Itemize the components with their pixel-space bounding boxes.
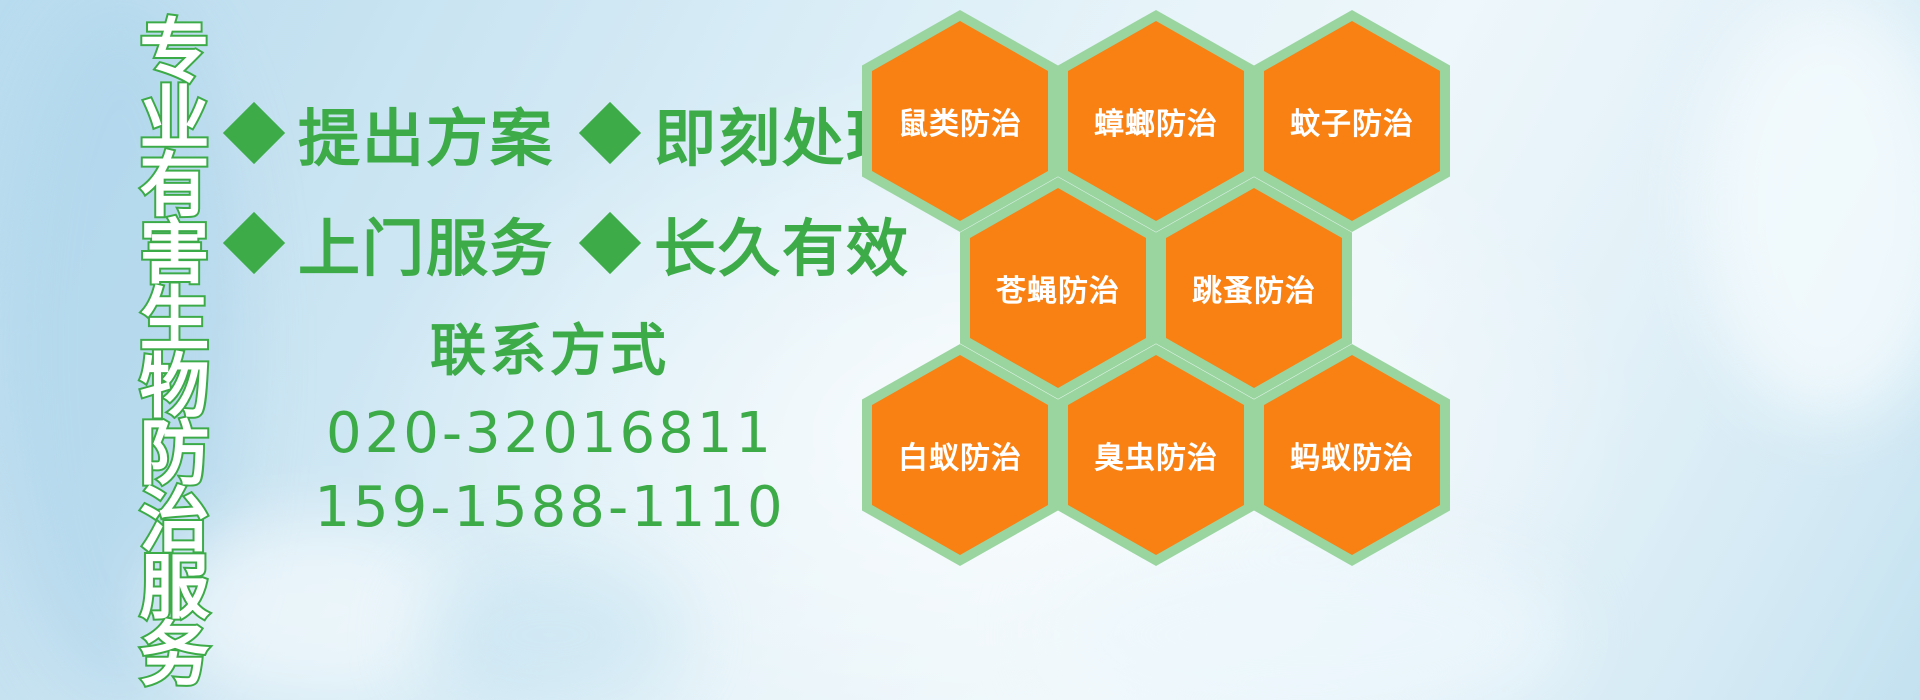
background-blob-right	[1700, 0, 1920, 420]
hex-label-fly: 苍蝇防治	[996, 266, 1120, 310]
phone-landline[interactable]: 020-32016811	[300, 397, 800, 471]
background-blob-bottom-mid	[420, 560, 680, 700]
hex-label-termite: 白蚁防治	[898, 433, 1022, 477]
feature-label-propose-plan: 提出方案	[298, 88, 554, 178]
hex-cell-bedbug[interactable]: 臭虫防治	[1058, 344, 1254, 566]
hex-label-rodent: 鼠类防治	[898, 99, 1022, 143]
hexagon-shape: 臭虫防治	[1058, 344, 1254, 566]
hex-label-ant: 蚂蚁防治	[1290, 433, 1414, 477]
diamond-bullet-icon	[579, 212, 641, 274]
hexagon-shape: 白蚁防治	[862, 344, 1058, 566]
hex-label-cockroach: 蟑螂防治	[1094, 99, 1218, 143]
contact-block: 联系方式 020-32016811 159-1588-1110	[300, 322, 800, 545]
hex-label-flea: 跳蚤防治	[1192, 266, 1316, 310]
pest-control-banner: 专业有害生物防治服务 提出方案 即刻处理 上门服务 长久有效 联系方式 020-…	[0, 0, 1920, 700]
feature-row-1: 提出方案 即刻处理	[232, 88, 910, 178]
feature-label-onsite-service: 上门服务	[298, 198, 554, 288]
diamond-bullet-icon	[579, 102, 641, 164]
hex-cell-termite[interactable]: 白蚁防治	[862, 344, 1058, 566]
contact-title: 联系方式	[300, 322, 800, 381]
hex-cell-ant[interactable]: 蚂蚁防治	[1254, 344, 1450, 566]
phone-mobile[interactable]: 159-1588-1110	[300, 471, 800, 545]
service-honeycomb: 鼠类防治 蟑螂防治 蚊子防治 苍蝇防治	[856, 0, 1456, 570]
hexagon-inner: 蚂蚁防治	[1264, 355, 1440, 555]
hexagon-inner: 白蚁防治	[872, 355, 1048, 555]
hex-label-bedbug: 臭虫防治	[1094, 433, 1218, 477]
diamond-bullet-icon	[223, 212, 285, 274]
diamond-bullet-icon	[223, 102, 285, 164]
hexagon-inner: 臭虫防治	[1068, 355, 1244, 555]
hexagon-shape: 蚂蚁防治	[1254, 344, 1450, 566]
hex-label-mosquito: 蚊子防治	[1290, 99, 1414, 143]
vertical-headline: 专业有害生物防治服务	[106, 14, 202, 684]
feature-row-2: 上门服务 长久有效	[232, 198, 910, 288]
